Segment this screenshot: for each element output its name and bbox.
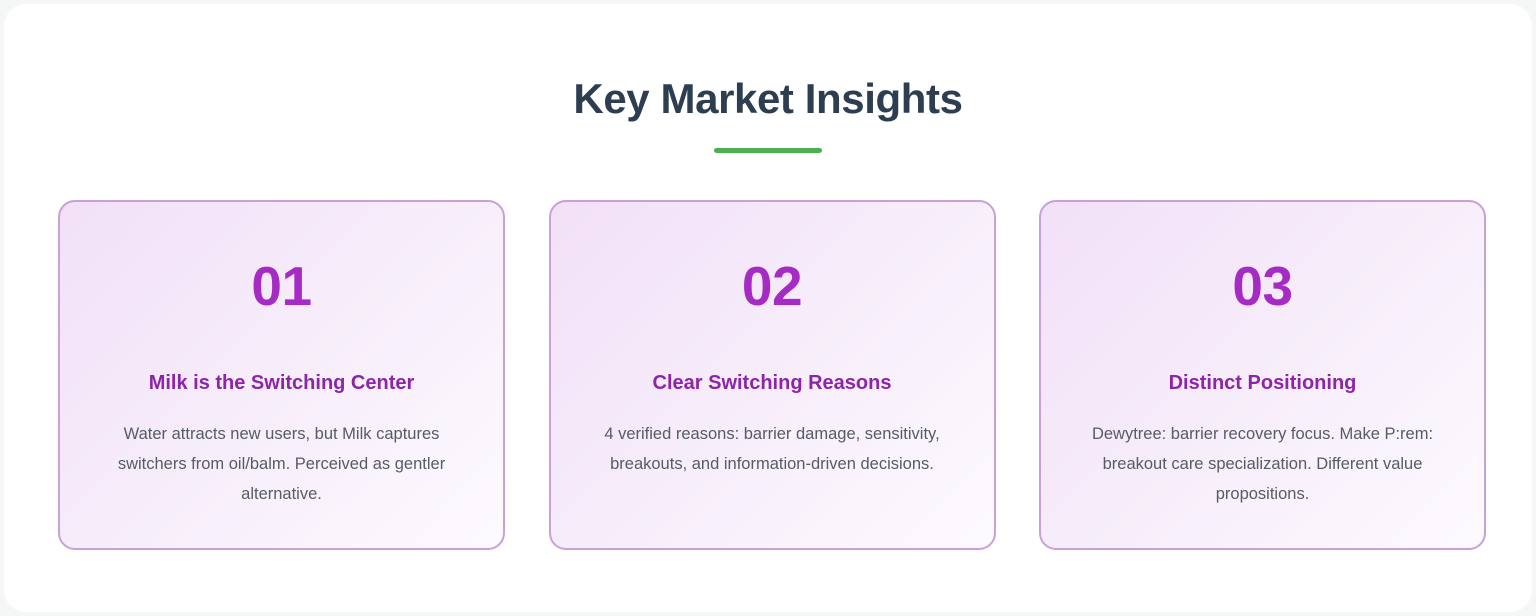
card-number: 03 <box>1232 202 1292 314</box>
content-panel: Key Market Insights 01 Milk is the Switc… <box>4 4 1532 612</box>
title-underline-accent <box>714 148 822 153</box>
card-number: 02 <box>742 202 802 314</box>
insight-card-03: 03 Distinct Positioning Dewytree: barrie… <box>1039 200 1486 550</box>
insight-cards-row: 01 Milk is the Switching Center Water at… <box>58 200 1486 550</box>
card-number: 01 <box>251 202 311 314</box>
card-body-text: Water attracts new users, but Milk captu… <box>92 395 472 509</box>
insight-card-02: 02 Clear Switching Reasons 4 verified re… <box>549 200 996 550</box>
section-header: Key Market Insights <box>4 4 1532 153</box>
card-heading: Distinct Positioning <box>1169 314 1357 395</box>
card-heading: Milk is the Switching Center <box>149 314 415 395</box>
card-heading: Clear Switching Reasons <box>653 314 892 395</box>
title-accent-wrapper <box>4 148 1532 153</box>
card-body-text: Dewytree: barrier recovery focus. Make P… <box>1073 395 1453 509</box>
page-title: Key Market Insights <box>4 4 1532 120</box>
card-body-text: 4 verified reasons: barrier damage, sens… <box>582 395 962 479</box>
insight-card-01: 01 Milk is the Switching Center Water at… <box>58 200 505 550</box>
